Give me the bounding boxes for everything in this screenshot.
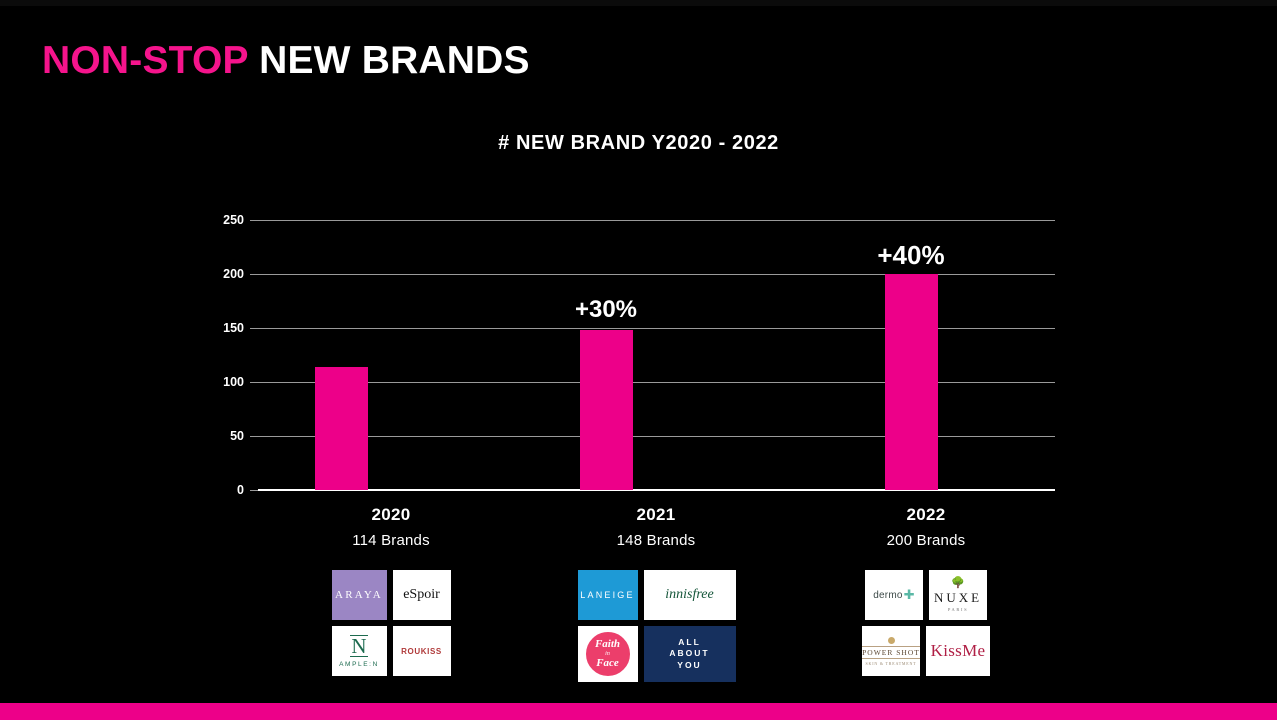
category-count-label: 200 Brands <box>826 532 1026 549</box>
logo-power-dot <box>888 637 895 644</box>
y-tick-mark-150 <box>250 328 258 329</box>
logo-laneige: LANEIGE <box>578 570 638 620</box>
logo-grid-2022: dermo ✚ 🌳 NUXE PARIS POWER SHOT SKIN & T… <box>861 570 991 676</box>
logo-roukiss-text: ROUKISS <box>401 647 442 656</box>
logo-laneige-text: LANEIGE <box>580 590 634 600</box>
category-count-label: 114 Brands <box>291 532 491 549</box>
bar-2021[interactable] <box>580 330 633 490</box>
y-tick-label-50: 50 <box>198 429 244 443</box>
top-edge-band <box>0 0 1277 6</box>
logo-power-shot: POWER SHOT SKIN & TREATMENT <box>862 626 920 676</box>
category-year-label: 2020 <box>291 505 491 525</box>
logo-faith-line1: Faith <box>595 639 620 650</box>
logo-amplen: N AMPLE:N <box>332 626 387 676</box>
logo-nuxe-sub: PARIS <box>948 607 968 612</box>
logo-espoir: eSpoir <box>393 570 451 620</box>
y-tick-mark-200 <box>250 274 258 275</box>
logo-aay-line2: ABOUT <box>669 648 709 659</box>
category-count-label: 148 Brands <box>556 532 756 549</box>
logo-nuxe-text: NUXE <box>934 590 982 606</box>
logo-amplen-text: AMPLE:N <box>339 661 379 668</box>
logo-innisfree: innisfree <box>644 570 736 620</box>
category-2020: 2020 114 Brands <box>291 505 491 549</box>
logo-power-text: POWER SHOT <box>862 646 920 659</box>
logo-dermo-text: dermo <box>873 590 902 601</box>
y-tick-label-250: 250 <box>198 213 244 227</box>
tree-icon: 🌳 <box>951 578 965 588</box>
y-tick-mark-50 <box>250 436 258 437</box>
logo-faith-line3: Face <box>596 658 619 669</box>
logo-aay-line3: YOU <box>677 660 701 671</box>
logo-faith-circle: Faith in Face <box>584 630 632 678</box>
logo-roukiss: ROUKISS <box>393 626 451 676</box>
cross-icon: ✚ <box>904 587 915 603</box>
logo-amplen-mark: N <box>350 635 367 657</box>
bar-annotation-2021: +30% <box>546 296 666 324</box>
logo-grid-2021: LANEIGE innisfree Faith in Face ALL ABOU… <box>575 570 738 682</box>
logo-innisfree-text: innisfree <box>665 587 713 603</box>
logo-faith-in-face: Faith in Face <box>578 626 638 682</box>
logo-kissme-text: KissMe <box>931 641 986 661</box>
logo-araya-text: ARAYA <box>335 589 383 601</box>
slide: NON-STOP NEW BRANDS # NEW BRAND Y2020 - … <box>0 0 1277 720</box>
bar-annotation-2022: +40% <box>851 240 971 271</box>
chart-title: # NEW BRAND Y2020 - 2022 <box>0 132 1277 155</box>
category-2021: 2021 148 Brands <box>556 505 756 549</box>
logo-dermo: dermo ✚ <box>865 570 923 620</box>
logo-grid-2020: ARAYA eSpoir N AMPLE:N ROUKISS <box>326 570 456 676</box>
bar-2020[interactable] <box>315 367 368 490</box>
logo-power-sub: SKIN & TREATMENT <box>866 661 917 666</box>
logo-espoir-text: eSpoir <box>403 587 440 603</box>
logo-aay-line1: ALL <box>678 637 701 648</box>
logo-all-about-you: ALL ABOUT YOU <box>644 626 736 682</box>
category-year-label: 2021 <box>556 505 756 525</box>
category-2022: 2022 200 Brands <box>826 505 1026 549</box>
y-tick-label-200: 200 <box>198 267 244 281</box>
category-year-label: 2022 <box>826 505 1026 525</box>
y-tick-label-150: 150 <box>198 321 244 335</box>
logo-araya: ARAYA <box>332 570 387 620</box>
y-tick-label-100: 100 <box>198 375 244 389</box>
logo-nuxe: 🌳 NUXE PARIS <box>929 570 987 620</box>
gridline-250 <box>258 220 1055 221</box>
plot-area: +30% +40% <box>258 220 1055 490</box>
footer-accent-bar <box>0 703 1277 720</box>
page-title-highlight: NON-STOP <box>42 39 248 82</box>
page-title: NON-STOP NEW BRANDS <box>42 41 530 80</box>
y-tick-mark-100 <box>250 382 258 383</box>
y-tick-mark-250 <box>250 220 258 221</box>
y-tick-mark-0 <box>250 490 258 491</box>
logo-kissme: KissMe <box>926 626 990 676</box>
page-title-rest: NEW BRANDS <box>259 39 530 82</box>
y-tick-label-0: 0 <box>198 483 244 497</box>
bar-2022[interactable] <box>885 274 938 490</box>
